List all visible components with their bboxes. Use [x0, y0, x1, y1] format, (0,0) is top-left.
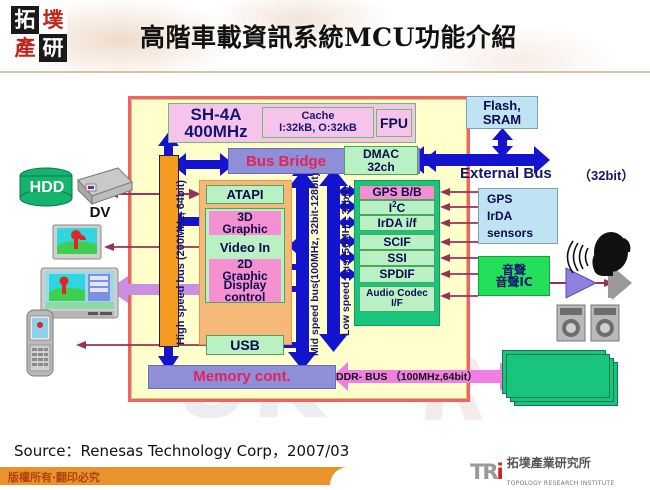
tri-mark: TRi: [470, 460, 502, 484]
logo-char-1: 拓: [11, 6, 39, 34]
sensors-block: GPS IrDA sensors: [478, 188, 558, 244]
source-text: Source：Renesas Technology Corp，2007/03: [14, 440, 349, 461]
cache-block: Cache I:32kB, O:32kB: [262, 107, 374, 138]
small-display-icon: [53, 225, 101, 259]
hdd-label: HDD: [24, 179, 70, 197]
cpu-label: SH-4A 400MHz: [174, 106, 258, 140]
graphics-3d-line2: Graphic: [222, 223, 267, 235]
audio-signal-line: [550, 266, 632, 300]
display-control-line2: control: [225, 291, 266, 303]
footer-brand: TRi 拓墣產業研究所 TOPOLOGY RESEARCH INSTITUTE: [470, 460, 645, 484]
audio-codec-block: Audio Codec I/F: [359, 286, 435, 312]
ssi-block: SSI: [359, 250, 435, 266]
speaker-boxes-icon: [557, 305, 619, 341]
flash-sram-line2: SRAM: [483, 113, 521, 126]
listener-head-icon: [592, 232, 630, 276]
dmac-label-line2: 32ch: [367, 161, 394, 173]
monitor-icon: [41, 268, 118, 318]
sensor-generic: sensors: [487, 225, 533, 242]
sensor-irda: IrDA: [487, 208, 512, 225]
gps-bb-block: GPS B/B: [359, 185, 435, 200]
bus-bridge-label: Bus Bridge: [232, 151, 340, 171]
flash-sram-block: Flash, SRAM: [466, 96, 538, 129]
audio-ic-line2: 音聲IC: [495, 276, 532, 288]
header-divider: [0, 71, 650, 73]
cache-label-line2: I:32kB, O:32kB: [279, 123, 357, 134]
flash-connector-arrow: [492, 128, 513, 158]
external-bus-bits-label: （32bit）: [578, 165, 634, 184]
logo-char-3: 產: [11, 34, 39, 62]
dv-icon: [78, 168, 132, 204]
slide-canvas: 拓 墣 產 研 高階車載資訊系統MCU功能介紹 UK R: [0, 0, 650, 485]
audio-ic-block: 音聲 音聲IC: [478, 256, 550, 296]
memory-controller-block: Memory cont.: [148, 365, 336, 389]
sensor-gps: GPS: [487, 191, 512, 208]
mid-speed-bus-label: Mid speed bus(100MHz, 32bit-128bit): [309, 173, 321, 356]
irda-if-block: IrDA i/f: [359, 215, 435, 231]
dmac-block: DMAC 32ch: [344, 146, 418, 175]
cpu-label-line2: 400MHz: [174, 123, 258, 140]
logo-char-2: 墣: [39, 6, 67, 34]
cache-label-line1: Cache: [301, 111, 334, 122]
mobile-phone-icon: [27, 310, 53, 376]
graphics-3d-block: 3D Graphic: [209, 211, 281, 235]
cpu-label-line1: SH-4A: [174, 106, 258, 123]
um-memory-stack: UM （DDR SDRAM）: [502, 350, 620, 412]
i2c-block: I2C: [359, 200, 435, 215]
i2c-label: I2C: [389, 201, 405, 214]
audio-codec-line2: I/F: [391, 299, 403, 309]
scif-block: SCIF: [359, 234, 435, 250]
brand-en: TOPOLOGY RESEARCH INSTITUTE: [507, 480, 615, 487]
dv-label: DV: [74, 204, 126, 221]
um-shadow-1: [506, 354, 610, 398]
spdif-block: SPDIF: [359, 266, 435, 283]
tri-i-letter: i: [497, 460, 502, 484]
flash-sram-line1: Flash,: [483, 99, 521, 112]
dmac-label-line1: DMAC: [363, 148, 399, 160]
fpu-block: FPU: [376, 109, 412, 137]
brand-cn: 拓墣產業研究所: [507, 456, 591, 470]
page-title: 高階車載資訊系統MCU功能介紹: [140, 18, 620, 54]
low-speed-bus-label: Low speed bus (50MHz, 32bit): [340, 187, 352, 336]
ddr-bus-label: DDR- BUS （100MHz,64bit）: [336, 369, 478, 384]
sound-wave-icon: [568, 241, 589, 273]
atapi-block: ATAPI: [206, 185, 284, 204]
copyright-text: 版權所有‧翻印必究: [8, 469, 100, 485]
high-speed-bus-label: High speed bus (200MHz, 64bit): [175, 180, 187, 345]
display-control-block: Display control: [209, 280, 281, 302]
video-in-block: Video In: [209, 238, 281, 257]
usb-block: USB: [206, 335, 284, 355]
tri-logo: 拓 墣 產 研: [11, 6, 67, 62]
logo-char-4: 研: [39, 34, 67, 62]
